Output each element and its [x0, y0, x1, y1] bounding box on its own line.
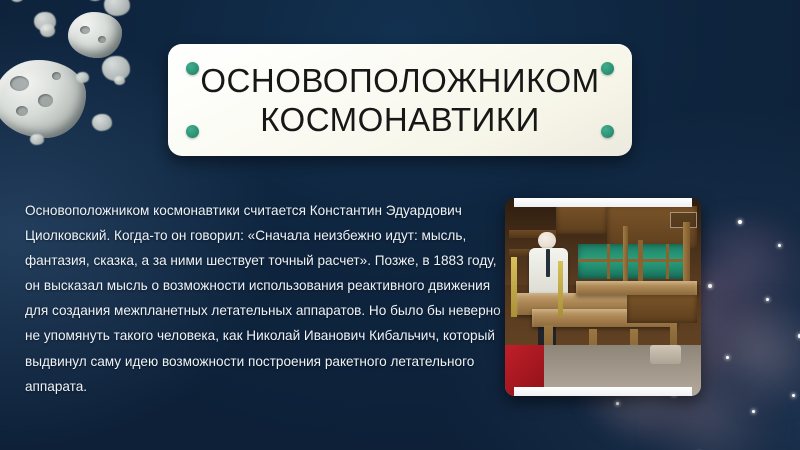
asteroid-small-icon	[30, 134, 44, 145]
title-plate: ОСНОВОПОЛОЖНИКОМ КОСМОНАВТИКИ	[168, 44, 632, 156]
photo-scene	[505, 198, 701, 396]
asteroid-small-icon	[102, 56, 130, 81]
star-icon	[738, 220, 742, 224]
plate-screw-dot-icon	[186, 125, 199, 138]
star-icon	[726, 356, 729, 359]
presentation-slide: ОСНОВОПОЛОЖНИКОМ КОСМОНАВТИКИ Основополо…	[0, 0, 800, 450]
asteroid-small-icon	[40, 24, 55, 37]
asteroid-medium-icon	[68, 12, 122, 58]
asteroid-small-icon	[114, 76, 125, 85]
asteroid-small-icon	[104, 0, 130, 16]
photo-top-strip	[514, 198, 692, 207]
plate-screw-dot-icon	[601, 62, 614, 75]
slide-body-text: Основоположником космонавтики считается …	[25, 198, 507, 399]
asteroid-small-icon	[76, 72, 89, 83]
star-icon	[778, 244, 781, 247]
asteroid-small-icon	[92, 114, 112, 131]
asteroid-small-icon	[86, 0, 104, 1]
slide-title: ОСНОВОПОЛОЖНИКОМ КОСМОНАВТИКИ	[200, 61, 600, 139]
plate-screw-dot-icon	[186, 62, 199, 75]
workshop-photo	[505, 198, 701, 396]
asteroid-small-icon	[34, 12, 56, 31]
asteroid-large-icon	[0, 60, 86, 138]
asteroid-small-icon	[10, 0, 24, 2]
photo-bottom-strip	[514, 387, 692, 396]
star-icon	[708, 284, 712, 288]
star-icon	[792, 394, 795, 397]
plate-screw-dot-icon	[601, 125, 614, 138]
star-icon	[752, 410, 755, 413]
star-icon	[766, 298, 769, 301]
star-icon	[616, 402, 619, 405]
